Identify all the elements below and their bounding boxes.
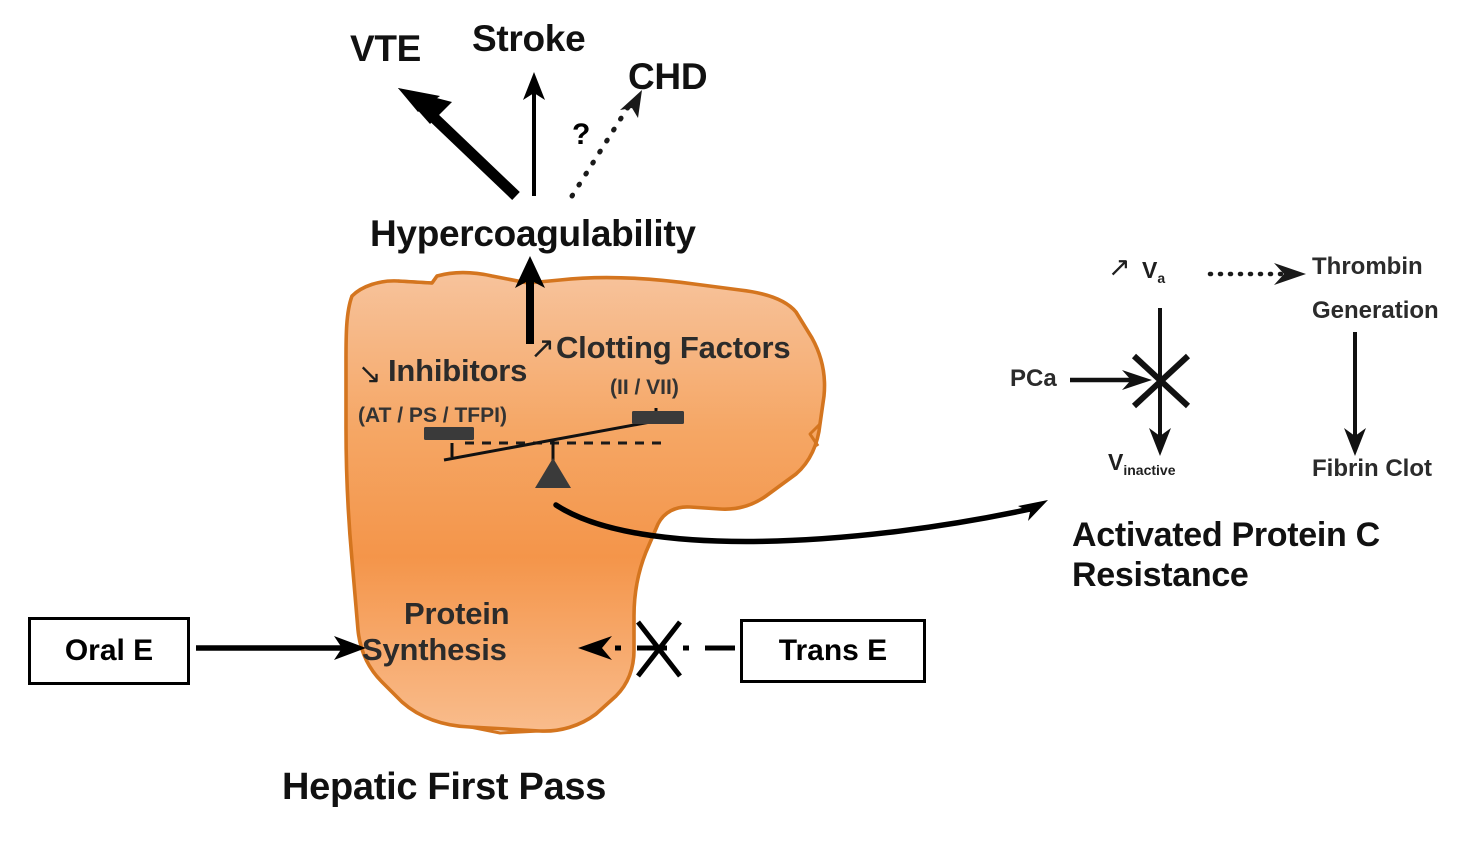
apc-resistance-caption-line2: Resistance <box>1072 556 1249 594</box>
inhibitors-label: Inhibitors <box>388 354 527 389</box>
oral-e-arrow <box>196 636 366 660</box>
va-increase-arrow-icon: ↗ <box>1108 252 1131 283</box>
hepatic-first-pass-caption: Hepatic First Pass <box>282 766 606 809</box>
va-symbol: V <box>1142 257 1157 283</box>
thrombin-generation-line2: Generation <box>1312 298 1439 325</box>
balance-pan-inhibitors <box>424 427 474 440</box>
up-right-arrow-icon: ↗ <box>530 331 555 366</box>
clotting-factors-detail: (II / VII) <box>610 376 679 400</box>
pca-arrow <box>1070 370 1152 390</box>
v-inactive-label: Vinactive <box>1108 450 1175 476</box>
clotting-factors-label: Clotting Factors <box>556 331 790 366</box>
vte-arrow <box>398 88 516 196</box>
liver-edge-notch-top <box>398 276 437 283</box>
diagram-canvas: VTE Stroke CHD ? Hypercoagulability ↗ Cl… <box>0 0 1472 841</box>
oral-estrogen-box[interactable]: Oral E <box>28 617 190 685</box>
outcome-label-stroke: Stroke <box>472 18 585 59</box>
outcome-label-vte: VTE <box>350 28 421 69</box>
pca-label: PCa <box>1010 366 1057 393</box>
protein-synthesis-line1: Protein <box>404 597 509 632</box>
va-subscript: a <box>1157 270 1165 286</box>
diagram-vector-layer <box>0 0 1472 841</box>
fibrin-clot-label: Fibrin Clot <box>1312 456 1432 483</box>
apc-resistance-caption-line1: Activated Protein C <box>1072 516 1380 554</box>
inhibitors-detail: (AT / PS / TFPI) <box>358 404 507 428</box>
balance-pan-clotting <box>632 411 684 424</box>
thrombin-to-fibrin-arrow <box>1344 332 1366 456</box>
va-to-thrombin-arrow <box>1210 263 1306 285</box>
stroke-arrow <box>523 72 545 196</box>
uncertainty-question-mark: ? <box>572 118 590 152</box>
hypercoagulability-label: Hypercoagulability <box>370 213 696 254</box>
protein-synthesis-line2: Synthesis <box>362 633 507 668</box>
v-inactive-symbol: V <box>1108 449 1123 475</box>
down-right-arrow-icon: ↘ <box>358 357 381 390</box>
trans-estrogen-box[interactable]: Trans E <box>740 619 926 683</box>
thrombin-generation-line1: Thrombin <box>1312 254 1423 281</box>
outcome-label-chd: CHD <box>628 56 707 97</box>
v-inactive-subscript: inactive <box>1123 462 1175 478</box>
va-label: Va <box>1142 258 1165 284</box>
